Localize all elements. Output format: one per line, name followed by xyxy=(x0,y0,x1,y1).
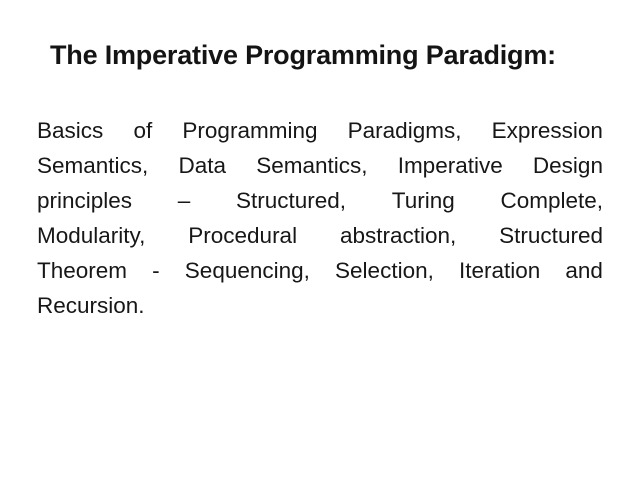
body-word: Semantics, xyxy=(256,148,367,183)
body-word: Structured, xyxy=(236,183,346,218)
body-line: principles–Structured,TuringComplete, xyxy=(37,183,603,218)
slide-body-text: BasicsofProgrammingParadigms,ExpressionS… xyxy=(37,113,603,323)
body-line: BasicsofProgrammingParadigms,Expression xyxy=(37,113,603,148)
body-word: Modularity, xyxy=(37,218,145,253)
body-word: Design xyxy=(533,148,603,183)
body-word: – xyxy=(178,183,191,218)
body-word: Semantics, xyxy=(37,148,148,183)
body-line: Modularity,Proceduralabstraction,Structu… xyxy=(37,218,603,253)
body-word: Iteration xyxy=(459,253,540,288)
body-line: Recursion. xyxy=(37,288,603,323)
body-word: Procedural xyxy=(188,218,297,253)
body-word: Structured xyxy=(499,218,603,253)
body-word: Complete, xyxy=(500,183,603,218)
body-word: Basics xyxy=(37,113,103,148)
body-word: Turing xyxy=(392,183,455,218)
body-word: Theorem xyxy=(37,253,127,288)
body-word: Data xyxy=(178,148,226,183)
body-line: Semantics,DataSemantics,ImperativeDesign xyxy=(37,148,603,183)
body-word: Imperative xyxy=(398,148,503,183)
body-word: Sequencing, xyxy=(185,253,310,288)
body-word: Expression xyxy=(492,113,603,148)
body-word: Selection, xyxy=(335,253,434,288)
body-word: of xyxy=(133,113,152,148)
body-line: Theorem-Sequencing,Selection,Iterationan… xyxy=(37,253,603,288)
body-word: abstraction, xyxy=(340,218,456,253)
slide-title: The Imperative Programming Paradigm: xyxy=(50,38,610,72)
body-word: Paradigms, xyxy=(348,113,462,148)
body-word: - xyxy=(152,253,160,288)
body-word: Programming xyxy=(182,113,317,148)
body-word: Recursion. xyxy=(37,288,145,323)
body-word: principles xyxy=(37,183,132,218)
slide-canvas: The Imperative Programming Paradigm: Bas… xyxy=(0,0,640,480)
body-word: and xyxy=(565,253,603,288)
